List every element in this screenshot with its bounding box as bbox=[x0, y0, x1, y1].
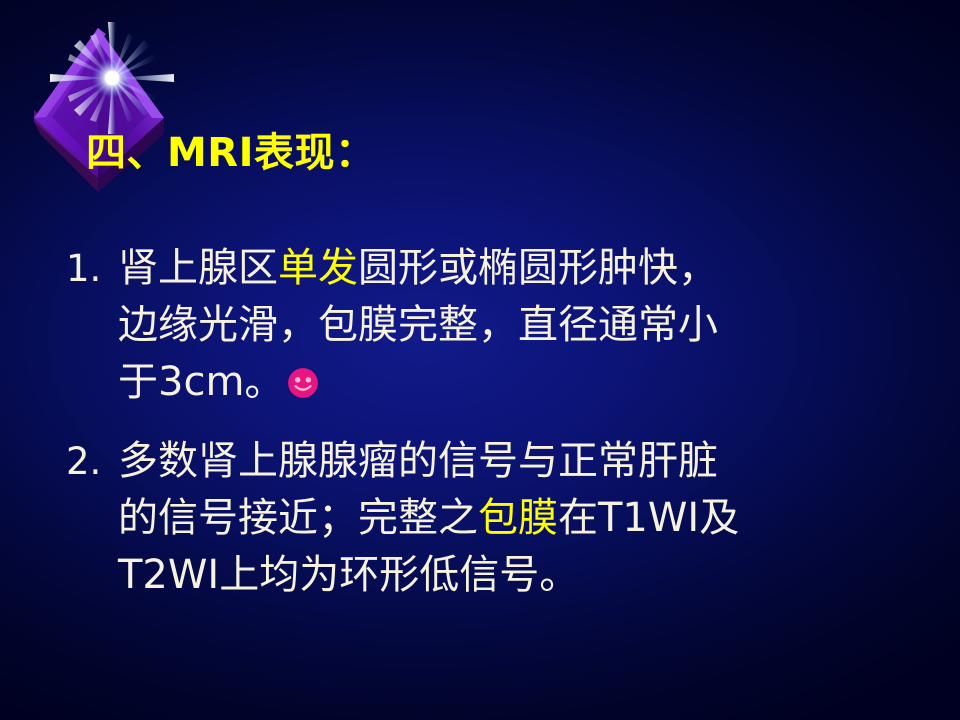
text-line: 的信号接近；完整之包膜在T1WI及 bbox=[118, 490, 946, 547]
text-line: 多数肾上腺腺瘤的信号与正常肝脏 bbox=[118, 433, 946, 490]
text-line: 肾上腺区单发圆形或椭圆形肿快， bbox=[118, 240, 946, 297]
starburst-rays bbox=[50, 22, 174, 134]
list-item-text: 肾上腺区单发圆形或椭圆形肿快，边缘光滑，包膜完整，直径通常小于3cm。 bbox=[118, 240, 946, 411]
list-item-marker: 2. bbox=[66, 433, 118, 490]
text-line: 于3cm。 bbox=[118, 354, 946, 411]
text-run: 多数肾上腺腺瘤的信号与正常肝脏 bbox=[118, 438, 718, 484]
highlighted-text: 单发 bbox=[278, 245, 358, 291]
text-run: 肾上腺区 bbox=[118, 245, 278, 291]
list-item-marker: 1. bbox=[66, 240, 118, 297]
page-title: 四、MRI表现： bbox=[86, 133, 376, 173]
title-row: 四、MRI表现： bbox=[86, 126, 376, 180]
text-run: 在T1WI及 bbox=[558, 495, 739, 541]
slide-canvas: 四、MRI表现： 1.肾上腺区单发圆形或椭圆形肿快，边缘光滑，包膜完整，直径通常… bbox=[0, 0, 960, 720]
text-run: 圆形或椭圆形肿快， bbox=[358, 245, 718, 291]
list-item-text: 多数肾上腺腺瘤的信号与正常肝脏的信号接近；完整之包膜在T1WI及T2WI上均为环… bbox=[118, 433, 946, 604]
text-line: T2WI上均为环形低信号。 bbox=[118, 547, 946, 604]
text-run: T2WI上均为环形低信号。 bbox=[118, 552, 579, 598]
content-list: 1.肾上腺区单发圆形或椭圆形肿快，边缘光滑，包膜完整，直径通常小于3cm。2.多… bbox=[66, 240, 946, 626]
list-item: 2.多数肾上腺腺瘤的信号与正常肝脏的信号接近；完整之包膜在T1WI及T2WI上均… bbox=[66, 433, 946, 604]
smiley-face-icon bbox=[284, 359, 320, 405]
highlighted-text: 包膜 bbox=[478, 495, 558, 541]
list-item: 1.肾上腺区单发圆形或椭圆形肿快，边缘光滑，包膜完整，直径通常小于3cm。 bbox=[66, 240, 946, 411]
text-run: 的信号接近；完整之 bbox=[118, 495, 478, 541]
text-run: 边缘光滑，包膜完整，直径通常小 bbox=[118, 302, 718, 348]
text-run: 于3cm。 bbox=[118, 359, 284, 405]
text-line: 边缘光滑，包膜完整，直径通常小 bbox=[118, 297, 946, 354]
